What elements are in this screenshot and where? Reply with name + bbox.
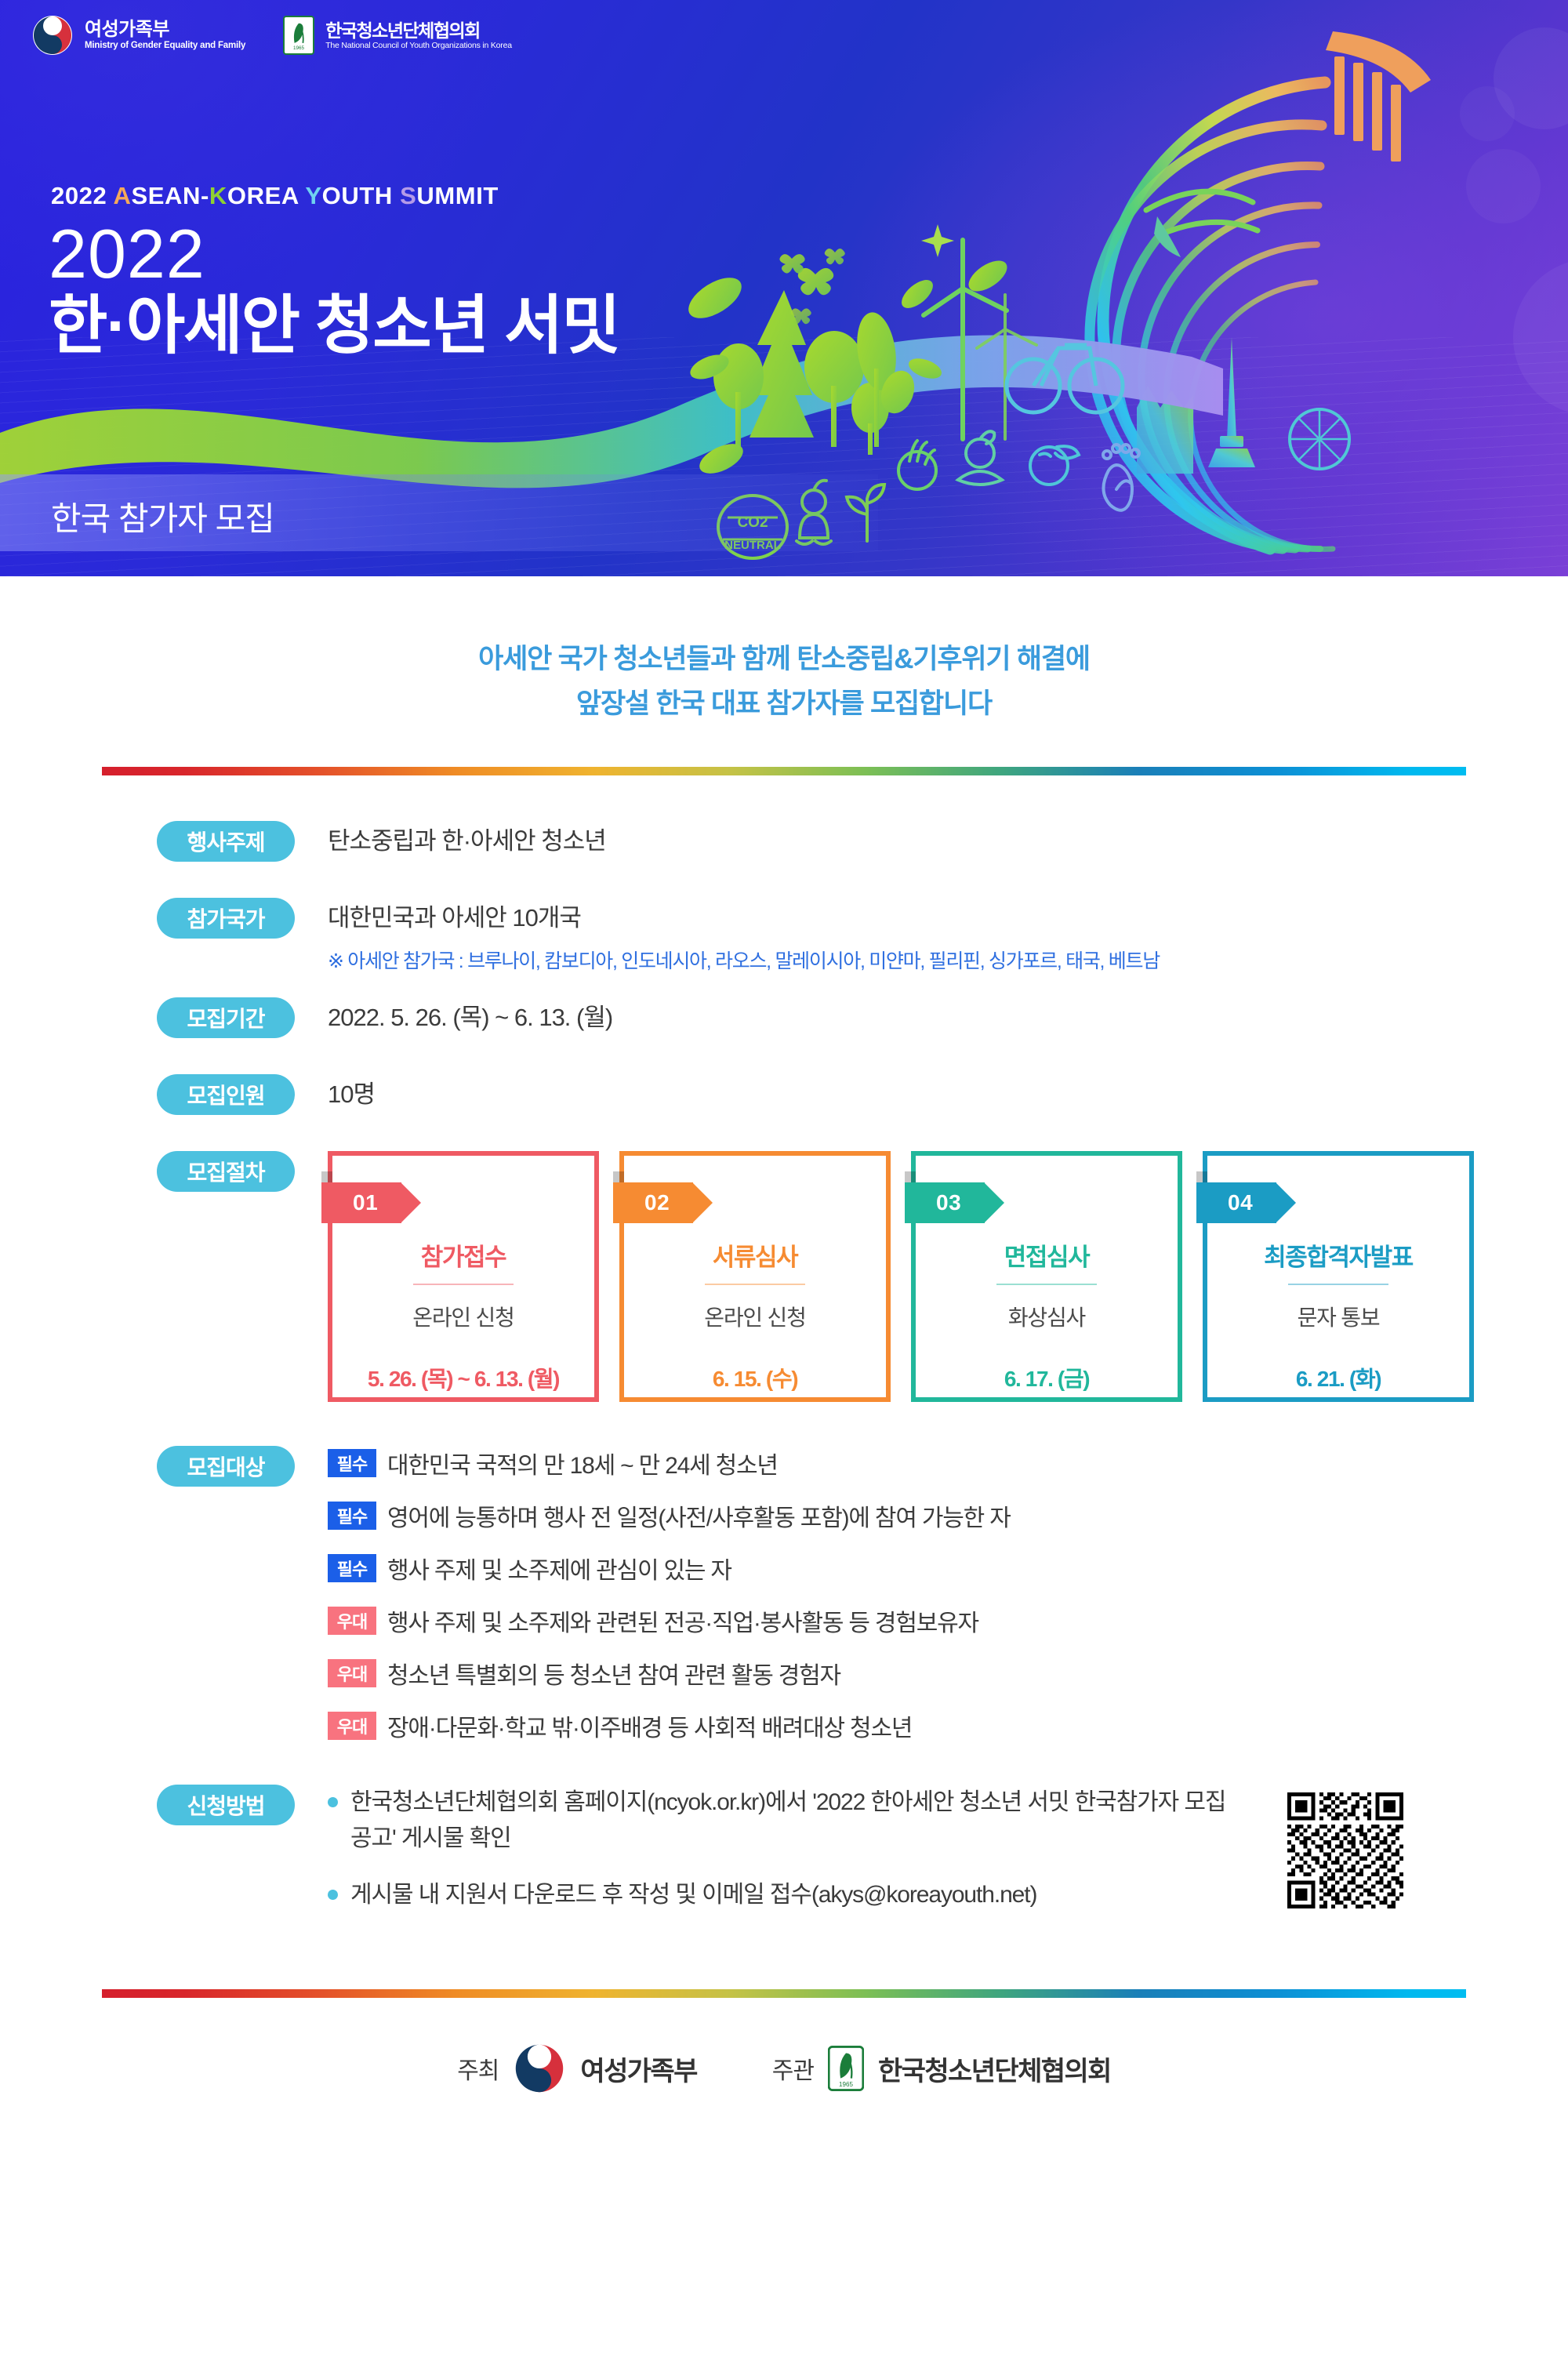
intro-line-1: 아세안 국가 청소년들과 함께 탄소중립&기후위기 해결에 [0,637,1568,682]
qr-code-icon[interactable] [1287,1792,1403,1908]
info-content-quota: 10명 [328,1074,375,1113]
step-title: 서류심사 [713,1237,797,1273]
target-item-text: 대한민국 국적의 만 18세 ~ 만 24세 청소년 [387,1446,778,1480]
info-note-countries: ※ 아세안 참가국 : 브루나이, 캄보디아, 인도네시아, 라오스, 말레이시… [328,946,1160,974]
step-rule [413,1284,514,1285]
bullet-dot-icon [328,1890,338,1900]
process-step-card: 04 최종합격자발표 문자 통보 6. 21. (화) [1203,1151,1474,1402]
target-item: 필수 대한민국 국적의 만 18세 ~ 만 24세 청소년 [328,1446,1011,1480]
ministry-logo-unit: 여성가족부 Ministry of Gender Equality and Fa… [31,14,245,56]
ncyok-name-kr: 한국청소년단체협의회 [325,20,512,41]
step-title: 최종합격자발표 [1264,1237,1413,1273]
target-list: 필수 대한민국 국적의 만 18세 ~ 만 24세 청소년 필수 영어에 능통하… [328,1446,1011,1761]
info-main-period: 2022. 5. 26. (목) ~ 6. 13. (월) [328,1000,612,1036]
footer-organizer-label: 주관 [772,2051,814,2086]
step-subtitle: 온라인 신청 [412,1301,514,1332]
target-section: 모집대상 필수 대한민국 국적의 만 18세 ~ 만 24세 청소년 필수 영어… [157,1446,1568,1761]
target-item: 필수 행사 주제 및 소주제에 관심이 있는 자 [328,1551,1011,1585]
apply-item-text: 게시물 내 지원서 다운로드 후 작성 및 이메일 접수(akys@koreay… [350,1877,1036,1913]
tag-fold-shadow [613,1171,624,1182]
svg-text:1965: 1965 [293,45,305,51]
footer-host-label: 주최 [457,2051,499,2086]
event-year: 2022 [49,220,205,289]
step-subtitle: 화상심사 [1008,1301,1085,1332]
event-eyebrow: 2022 ASEAN-KOREA YOUTH SUMMIT [51,182,499,210]
step-number-tag: 03 [905,1182,985,1223]
apply-section: 신청방법 한국청소년단체협의회 홈페이지(ncyok.or.kr)에서 '202… [157,1785,1568,1933]
step-rule [996,1284,1097,1285]
info-main-countries: 대한민국과 아세안 10개국 [328,901,1160,936]
svg-text:1965: 1965 [839,2081,853,2088]
step-rule [705,1284,805,1285]
event-title-kr: 한·아세안 청소년 서밋 [49,292,619,361]
process-steps: 01 참가접수 온라인 신청 5. 26. (목) ~ 6. 13. (월) 0… [328,1151,1474,1402]
target-item-text: 청소년 특별회의 등 청소년 참여 관련 활동 경험자 [387,1656,840,1690]
tag-fold-shadow [321,1171,332,1182]
info-row-quota: 모집인원 10명 [157,1074,1568,1115]
step-date: 6. 21. (화) [1296,1362,1381,1393]
ncyok-logo-icon: 1965 [828,2046,864,2091]
target-item-text: 행사 주제 및 소주제에 관심이 있는 자 [387,1551,731,1585]
intro-line-2: 앞장설 한국 대표 참가자를 모집합니다 [0,682,1568,727]
apply-item: 한국청소년단체협의회 홈페이지(ncyok.or.kr)에서 '2022 한아세… [328,1785,1441,1856]
taeguk-logo-icon [513,2042,566,2095]
target-item: 필수 영어에 능통하며 행사 전 일정(사전/사후활동 포함)에 참여 가능한 … [328,1498,1011,1533]
step-subtitle: 온라인 신청 [704,1301,805,1332]
ministry-name-kr: 여성가족부 [85,20,245,41]
ncyok-logo-icon: 1965 [283,16,314,55]
poster-header: CO2 NEUTRAL [0,0,1568,576]
target-item: 우대 행사 주제 및 소주제와 관련된 전공·직업·봉사활동 등 경험보유자 [328,1603,1011,1638]
tag-fold-shadow [1196,1171,1207,1182]
step-number-tag: 01 [321,1182,401,1223]
info-row-theme: 행사주제 탄소중립과 한·아세안 청소년 [157,821,1568,862]
footer-organizer-unit: 주관 1965 한국청소년단체협의회 [772,2046,1111,2091]
info-row-period: 모집기간 2022. 5. 26. (목) ~ 6. 13. (월) [157,997,1568,1038]
info-content-theme: 탄소중립과 한·아세안 청소년 [328,821,606,859]
label-pill-target: 모집대상 [157,1446,295,1487]
apply-item: 게시물 내 지원서 다운로드 후 작성 및 이메일 접수(akys@koreay… [328,1877,1441,1913]
process-step-card: 02 서류심사 온라인 신청 6. 15. (수) [619,1151,891,1402]
process-section: 모집절차 01 참가접수 온라인 신청 5. 26. (목) ~ 6. 13. … [157,1151,1568,1402]
footer-organizer-name: 한국청소년단체협의회 [878,2050,1111,2088]
apply-item-text: 한국청소년단체협의회 홈페이지(ncyok.or.kr)에서 '2022 한아세… [350,1785,1229,1856]
taeguk-logo-icon [31,14,74,56]
step-subtitle: 문자 통보 [1298,1301,1380,1332]
info-main-quota: 10명 [328,1077,375,1113]
target-item-text: 장애·다문화·학교 밖·이주배경 등 사회적 배려대상 청소년 [387,1709,912,1743]
preferred-badge: 우대 [328,1607,376,1635]
process-step-card: 03 면접심사 화상심사 6. 17. (금) [911,1151,1182,1402]
requirement-badge: 필수 [328,1449,376,1477]
step-number-tag: 04 [1196,1182,1276,1223]
label-pill-period: 모집기간 [157,997,295,1038]
info-main-theme: 탄소중립과 한·아세안 청소년 [328,824,606,859]
ncyok-logo-text: 한국청소년단체협의회 The National Council of Youth… [325,20,512,51]
intro-block: 아세안 국가 청소년들과 함께 탄소중립&기후위기 해결에 앞장설 한국 대표 … [0,637,1568,726]
target-item-text: 행사 주제 및 소주제와 관련된 전공·직업·봉사활동 등 경험보유자 [387,1603,978,1638]
label-pill-countries: 참가국가 [157,898,295,939]
info-content-period: 2022. 5. 26. (목) ~ 6. 13. (월) [328,997,612,1036]
info-section: 행사주제 탄소중립과 한·아세안 청소년 참가국가 대한민국과 아세안 10개국… [0,821,1568,1933]
preferred-badge: 우대 [328,1659,376,1687]
process-step-card: 01 참가접수 온라인 신청 5. 26. (목) ~ 6. 13. (월) [328,1151,599,1402]
footer-host-name: 여성가족부 [580,2050,696,2088]
ministry-logo-text: 여성가족부 Ministry of Gender Equality and Fa… [85,20,245,51]
step-rule [1288,1284,1388,1285]
bottom-gradient-divider [102,1989,1466,1998]
label-pill-quota: 모집인원 [157,1074,295,1115]
subtitle-text: 한국 참가자 모집 [51,492,274,540]
header-logo-row: 여성가족부 Ministry of Gender Equality and Fa… [31,14,512,56]
step-title: 참가접수 [421,1237,506,1273]
label-pill-apply: 신청방법 [157,1785,295,1825]
step-title: 면접심사 [1004,1237,1089,1273]
apply-body: 한국청소년단체협의회 홈페이지(ncyok.or.kr)에서 '2022 한아세… [328,1785,1441,1933]
top-gradient-divider [102,767,1466,775]
ministry-name-en: Ministry of Gender Equality and Family [85,41,245,51]
step-date: 6. 17. (금) [1004,1362,1089,1393]
bullet-dot-icon [328,1797,338,1807]
label-pill-process: 모집절차 [157,1151,295,1192]
poster-footer: 주최 여성가족부 주관 1965 한국청소년단체협의회 [0,2042,1568,2095]
label-pill-theme: 행사주제 [157,821,295,862]
target-item: 우대 청소년 특별회의 등 청소년 참여 관련 활동 경험자 [328,1656,1011,1690]
requirement-badge: 필수 [328,1502,376,1530]
step-date: 5. 26. (목) ~ 6. 13. (월) [368,1362,559,1393]
info-content-countries: 대한민국과 아세안 10개국 ※ 아세안 참가국 : 브루나이, 캄보디아, 인… [328,898,1160,974]
poster-root: CO2 NEUTRAL [0,0,1568,2375]
ncyok-name-en: The National Council of Youth Organizati… [325,41,512,50]
target-item-text: 영어에 능통하며 행사 전 일정(사전/사후활동 포함)에 참여 가능한 자 [387,1498,1011,1533]
ncyok-logo-unit: 1965 한국청소년단체협의회 The National Council of … [283,16,512,55]
footer-host-unit: 주최 여성가족부 [457,2042,697,2095]
preferred-badge: 우대 [328,1712,376,1740]
tag-fold-shadow [905,1171,916,1182]
target-item: 우대 장애·다문화·학교 밖·이주배경 등 사회적 배려대상 청소년 [328,1709,1011,1743]
info-row-countries: 참가국가 대한민국과 아세안 10개국 ※ 아세안 참가국 : 브루나이, 캄보… [157,898,1568,974]
step-date: 6. 15. (수) [713,1362,797,1393]
requirement-badge: 필수 [328,1554,376,1582]
step-number-tag: 02 [613,1182,693,1223]
